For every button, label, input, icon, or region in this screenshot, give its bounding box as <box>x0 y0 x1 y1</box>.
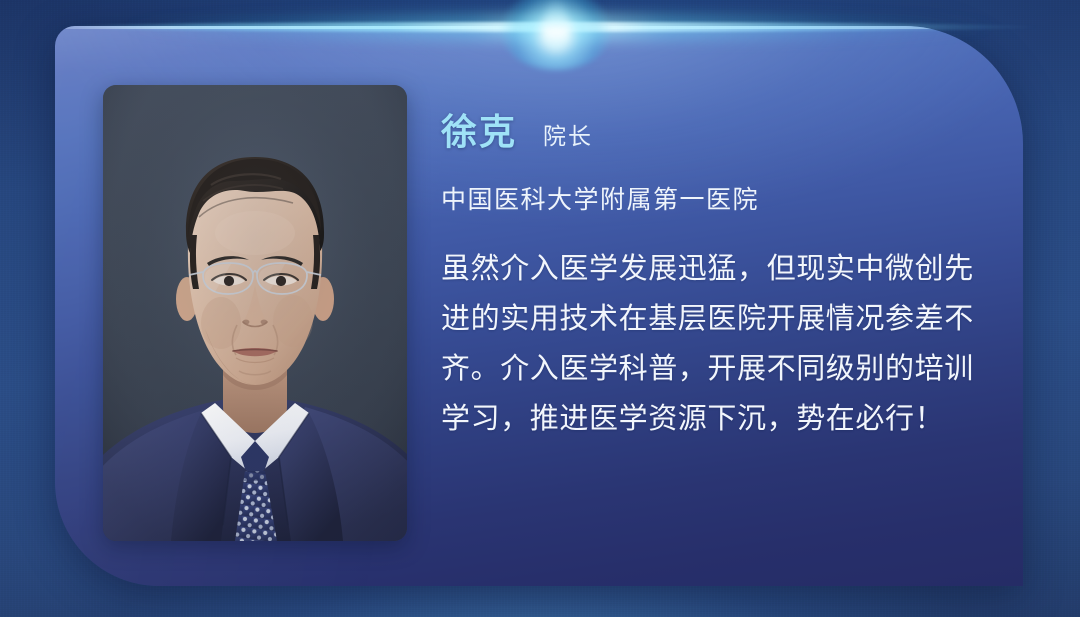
speaker-portrait-photo <box>103 85 407 541</box>
speaker-affiliation: 中国医科大学附属第一医院 <box>441 188 1011 213</box>
speaker-quote-text: 虽然介入医学发展迅猛，但现实中微创先进的实用技术在基层医院开展情况参差不齐。介入… <box>441 244 1001 444</box>
speaker-text-column: 徐克 院长 中国医科大学附属第一医院 虽然介入医学发展迅猛，但现实中微创先进的实… <box>441 114 1011 444</box>
speaker-name: 徐克 <box>441 114 517 150</box>
card-top-rim <box>55 26 1023 29</box>
speaker-name-row: 徐克 院长 <box>441 114 1011 166</box>
speaker-quote-card: 徐克 院长 中国医科大学附属第一医院 虽然介入医学发展迅猛，但现实中微创先进的实… <box>55 26 1023 586</box>
speaker-title: 院长 <box>543 125 593 148</box>
promo-card-stage: 徐克 院长 中国医科大学附属第一医院 虽然介入医学发展迅猛，但现实中微创先进的实… <box>0 0 1080 617</box>
